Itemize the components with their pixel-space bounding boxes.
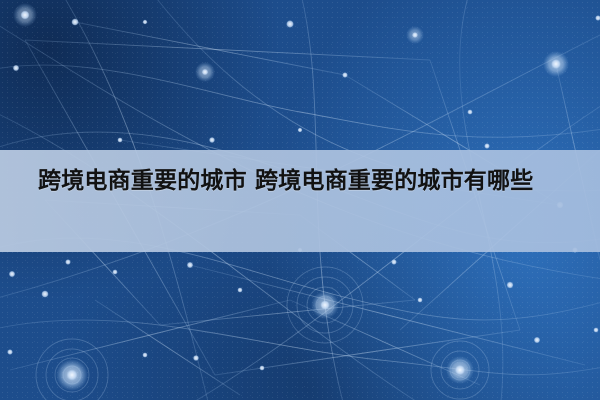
title-overlay-band: 跨境电商重要的城市 跨境电商重要的城市有哪些: [0, 150, 600, 252]
page-title: 跨境电商重要的城市 跨境电商重要的城市有哪些: [38, 164, 570, 198]
banner-image: 跨境电商重要的城市 跨境电商重要的城市有哪些: [0, 0, 600, 400]
